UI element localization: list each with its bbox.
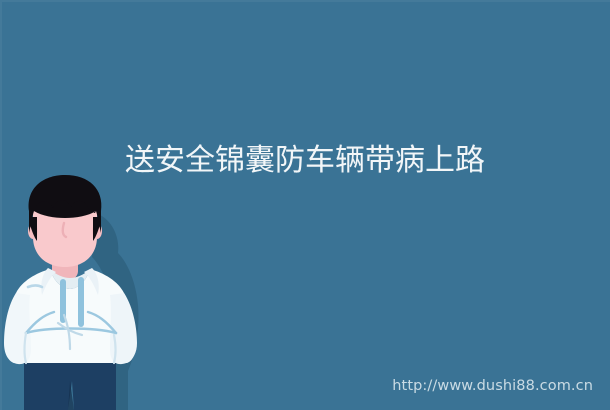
banner-headline: 送安全锦囊防车辆带病上路	[0, 143, 610, 179]
pants	[24, 359, 116, 410]
drawstring-right	[78, 277, 84, 327]
source-url-watermark: http://www.dushi88.com.cn	[392, 378, 593, 394]
article-banner-image: 送安全锦囊防车辆带病上路 http://www.dushi88.com.cn	[0, 0, 610, 410]
hoodie-person-illustration	[0, 175, 160, 410]
